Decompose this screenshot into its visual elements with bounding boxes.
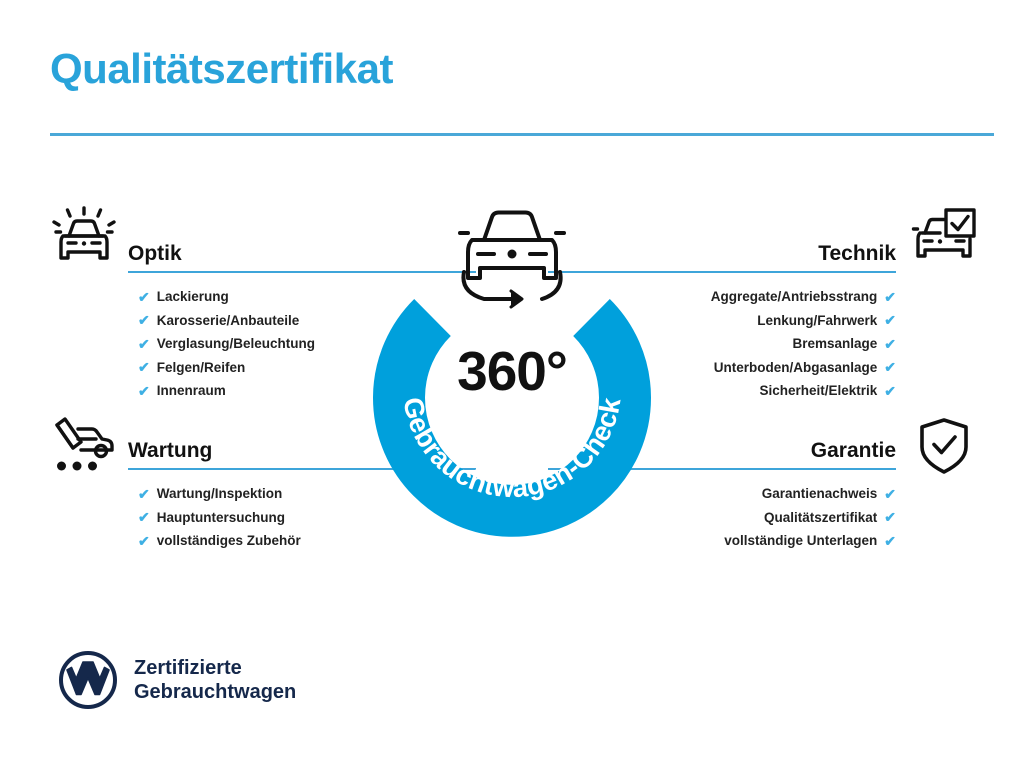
check-icon: ✔ xyxy=(884,487,896,501)
list-item-label: Bremsanlage xyxy=(792,332,877,356)
list-item-label: Lackierung xyxy=(157,285,229,309)
page-title: Qualitätszertifikat xyxy=(50,48,393,90)
list-item-label: Aggregate/Antriebsstrang xyxy=(711,285,878,309)
list-item-label: Qualitätszertifikat xyxy=(764,506,877,530)
list-item: vollständige Unterlagen✔ xyxy=(548,529,896,553)
vw-certified-logo: Zertifizierte Gebrauchtwagen xyxy=(58,650,296,710)
check-icon: ✔ xyxy=(884,313,896,327)
list-item-label: Innenraum xyxy=(157,379,226,403)
check-icon: ✔ xyxy=(138,290,150,304)
check-icon: ✔ xyxy=(138,384,150,398)
list-item-label: Hauptuntersuchung xyxy=(157,506,285,530)
check-icon: ✔ xyxy=(884,510,896,524)
pen-car-service-icon xyxy=(48,415,120,477)
list-item-label: Garantienachweis xyxy=(762,482,878,506)
certificate-page: Qualitätszertifikat xyxy=(0,0,1024,768)
check-icon: ✔ xyxy=(884,337,896,351)
list-item-label: vollständiges Zubehör xyxy=(157,529,301,553)
list-item-label: Sicherheit/Elektrik xyxy=(759,379,877,403)
check-icon: ✔ xyxy=(884,290,896,304)
list-item-label: Felgen/Reifen xyxy=(157,356,246,380)
check-icon: ✔ xyxy=(884,384,896,398)
list-item-label: Verglasung/Beleuchtung xyxy=(157,332,315,356)
check-icon: ✔ xyxy=(138,360,150,374)
vw-logo-line2: Gebrauchtwagen xyxy=(134,680,296,704)
check-icon: ✔ xyxy=(884,534,896,548)
shield-check-icon xyxy=(908,415,980,477)
check-icon: ✔ xyxy=(138,510,150,524)
vw-logo-icon xyxy=(58,650,118,710)
badge-360-gebrauchtwagen-check: Gebrauchtwagen-Check 360° xyxy=(372,192,652,512)
list-item-label: Wartung/Inspektion xyxy=(157,482,283,506)
check-icon: ✔ xyxy=(138,534,150,548)
list-item-label: Unterboden/Abgasanlage xyxy=(714,356,878,380)
list-item-label: Lenkung/Fahrwerk xyxy=(757,309,877,333)
vw-logo-text: Zertifizierte Gebrauchtwagen xyxy=(134,656,296,705)
list-item-label: Karosserie/Anbauteile xyxy=(157,309,300,333)
car-shine-icon xyxy=(48,206,120,268)
check-icon: ✔ xyxy=(138,313,150,327)
badge-center-value: 360° xyxy=(372,344,652,399)
vw-logo-line1: Zertifizierte xyxy=(134,656,296,680)
car-checkbox-icon xyxy=(908,206,980,268)
list-item-label: vollständige Unterlagen xyxy=(724,529,877,553)
title-divider xyxy=(50,133,994,136)
list-item: ✔vollständiges Zubehör xyxy=(128,529,476,553)
check-icon: ✔ xyxy=(884,360,896,374)
car-rotate-360-icon xyxy=(460,213,564,308)
check-icon: ✔ xyxy=(138,337,150,351)
check-icon: ✔ xyxy=(138,487,150,501)
